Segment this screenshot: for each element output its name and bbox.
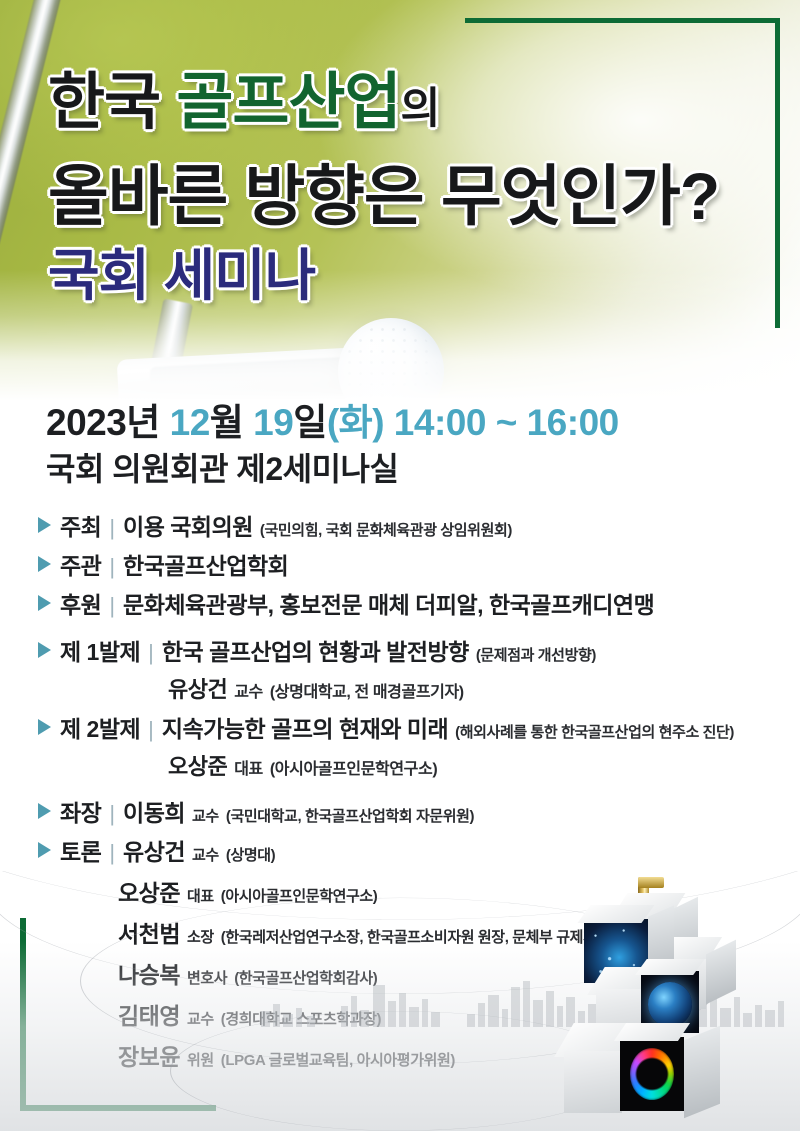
presentation-topic-2: 지속가능한 골프의 현재와 미래	[162, 710, 448, 744]
credit-label-host: 주최	[60, 508, 101, 542]
3d-cube-stack-icon	[552, 875, 782, 1125]
presentation-label-1: 제 1발제	[60, 633, 140, 667]
credit-label-organizer: 주관	[60, 547, 101, 581]
title-line-3: 국회 세미나	[48, 248, 315, 304]
credit-note-host: (국민의힘, 국회 문화체육관광 상임위원회)	[260, 519, 512, 540]
presentation-speaker-note-2: (아시아골프인문학연구소)	[270, 755, 437, 779]
discussion-first-name: 유상건	[123, 833, 185, 867]
discussion-label: 토론	[60, 833, 101, 867]
credit-value-sponsor: 문화체육관광부, 홍보전문 매체 더피알, 한국골프캐디연맹	[123, 586, 654, 620]
separator: |	[109, 593, 115, 619]
credit-row-sponsor: 후원 | 문화체육관광부, 홍보전문 매체 더피알, 한국골프캐디연맹	[38, 586, 778, 620]
credit-row-host: 주최 | 이용 국회의원 (국민의힘, 국회 문화체육관광 상임위원회)	[38, 508, 778, 542]
corner-bracket-top-right-horizontal	[465, 18, 780, 23]
chair-row: 좌장 | 이동희 교수 (국민대학교, 한국골프산업학회 자문위원)	[38, 794, 778, 828]
title-line-1-part-3: 의	[401, 85, 440, 133]
presentation-speaker-name-1: 유상건	[168, 672, 227, 704]
triangle-bullet-icon	[38, 642, 51, 658]
seminar-poster: 한국 골프산업의 올바른 방향은 무엇인가? 국회 세미나 2023년 12월 …	[0, 0, 800, 1131]
presentation-speaker-note-1: (상명대학교, 전 매경골프기자)	[270, 678, 464, 702]
triangle-bullet-icon	[38, 842, 51, 858]
presentation-speaker-row-2: 오상준 대표 (아시아골프인문학연구소)	[168, 749, 778, 781]
event-time: 14:00 ~ 16:00	[394, 402, 619, 443]
separator: |	[148, 640, 154, 666]
separator: |	[109, 801, 115, 827]
event-datetime: 2023년 12월 19일(화) 14:00 ~ 16:00	[46, 392, 619, 446]
presentation-topic-1: 한국 골프산업의 현황과 발전방향	[162, 633, 469, 667]
presentation-speaker-name-2: 오상준	[168, 749, 227, 781]
triangle-bullet-icon	[38, 595, 51, 611]
title-line-1: 한국 골프산업의	[48, 72, 439, 134]
event-month: 12	[170, 402, 210, 443]
title-line-1-part-2: 골프산업	[176, 68, 400, 137]
title-line-1-part-1: 한국	[48, 68, 160, 137]
discussion-row: 토론 | 유상건 교수 (상명대)	[38, 833, 778, 867]
corner-bracket-top-right-vertical	[775, 18, 780, 328]
triangle-bullet-icon	[38, 803, 51, 819]
bottom-artwork	[0, 871, 800, 1131]
presentation-speaker-title-2: 대표	[234, 755, 263, 779]
title-line-2: 올바른 방향은 무엇인가?	[48, 163, 719, 229]
presentation-speaker-title-1: 교수	[234, 678, 263, 702]
presentation-topic-note-1: (문제점과 개선방향)	[476, 644, 596, 665]
chair-title: 교수	[192, 805, 219, 826]
credit-value-organizer: 한국골프산업학회	[123, 547, 288, 581]
presentation-label-2: 제 2발제	[60, 710, 140, 744]
chair-label: 좌장	[60, 794, 101, 828]
credit-row-organizer: 주관 | 한국골프산업학회	[38, 547, 778, 581]
credit-label-sponsor: 후원	[60, 586, 101, 620]
separator: |	[109, 840, 115, 866]
chair-name: 이동희	[123, 794, 185, 828]
presentation-row-1: 제 1발제 | 한국 골프산업의 현황과 발전방향 (문제점과 개선방향)	[38, 633, 778, 667]
event-day-unit: 일	[293, 402, 327, 443]
credit-value-host: 이용 국회의원	[123, 508, 253, 542]
separator: |	[148, 717, 154, 743]
triangle-bullet-icon	[38, 719, 51, 735]
event-month-unit: 월	[210, 402, 244, 443]
separator: |	[109, 515, 115, 541]
presentation-row-2: 제 2발제 | 지속가능한 골프의 현재와 미래 (해외사례를 통한 한국골프산…	[38, 710, 778, 744]
triangle-bullet-icon	[38, 556, 51, 572]
event-year: 2023년	[46, 402, 160, 443]
event-weekday: (화)	[327, 402, 384, 443]
discussion-first-title: 교수	[192, 844, 219, 865]
triangle-bullet-icon	[38, 517, 51, 533]
presentation-topic-note-2: (해외사례를 통한 한국골프산업의 현주소 진단)	[455, 721, 734, 742]
event-day: 19	[253, 402, 293, 443]
chair-note: (국민대학교, 한국골프산업학회 자문위원)	[226, 805, 474, 826]
presentation-speaker-row-1: 유상건 교수 (상명대학교, 전 매경골프기자)	[168, 672, 778, 704]
event-venue: 국회 의원회관 제2세미나실	[46, 444, 398, 490]
discussion-first-note: (상명대)	[226, 844, 275, 865]
separator: |	[109, 554, 115, 580]
